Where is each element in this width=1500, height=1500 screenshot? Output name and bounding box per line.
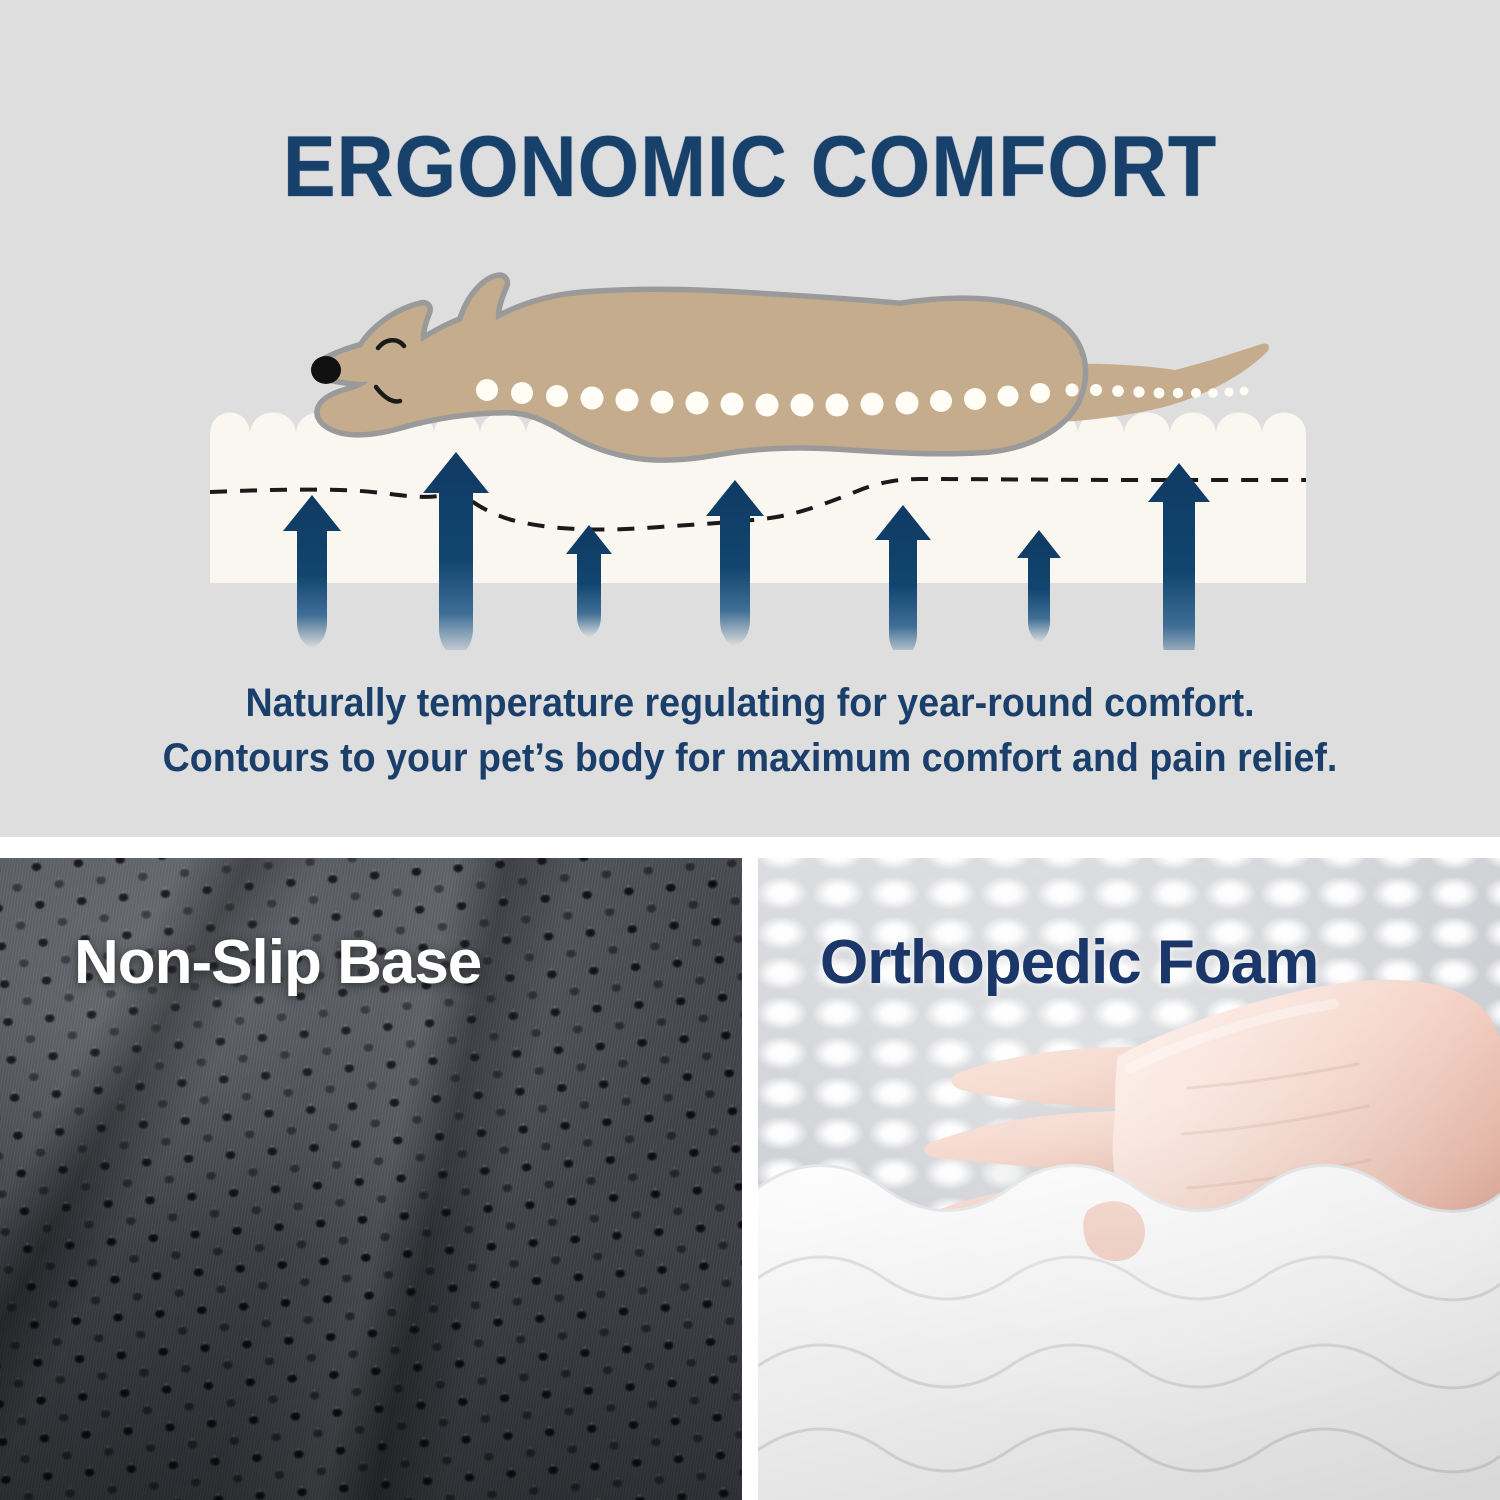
hero-subtitle: Naturally temperature regulating for yea…: [45, 676, 1455, 786]
hero-panel: ERGONOMIC COMFORT: [0, 0, 1500, 837]
dog-foam-illustration: [0, 250, 1500, 650]
subtitle-line-2: Contours to your pet’s body for maximum …: [45, 731, 1455, 786]
dog-nose: [311, 356, 341, 384]
feature-panels: Non-Slip Base: [0, 837, 1500, 1500]
panel-orthopedic-foam: Orthopedic Foam: [758, 858, 1500, 1500]
infographic-page: ERGONOMIC COMFORT: [0, 0, 1500, 1500]
panel-caption-non-slip-base: Non-Slip Base: [74, 927, 481, 998]
panel-caption-orthopedic-foam: Orthopedic Foam: [820, 927, 1318, 998]
page-title: ERGONOMIC COMFORT: [60, 118, 1440, 217]
subtitle-line-1: Naturally temperature regulating for yea…: [45, 676, 1455, 731]
panel-non-slip-base: Non-Slip Base: [0, 858, 742, 1500]
